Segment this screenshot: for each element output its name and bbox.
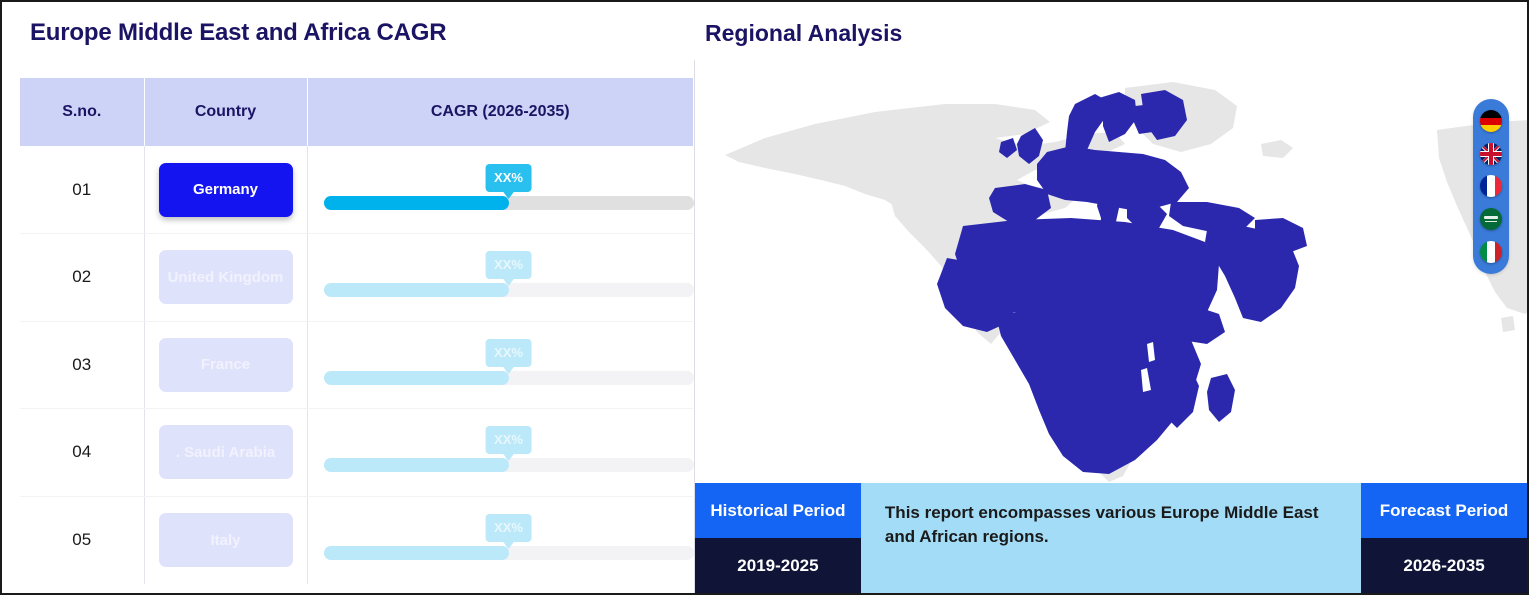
cagr-bar: XX% — [324, 424, 694, 480]
historical-period-block: Historical Period 2019-2025 — [695, 483, 861, 593]
cagr-bar: XX% — [324, 337, 694, 393]
table-header: S.no. Country CAGR (2026-2035) — [20, 78, 693, 146]
table-row: 01GermanyXX% — [20, 146, 693, 234]
infographic-root: Europe Middle East and Africa CAGR S.no.… — [0, 0, 1529, 595]
column-header-sno: S.no. — [20, 78, 144, 146]
world-map-svg — [695, 60, 1527, 483]
table-row: 02United KingdomXX% — [20, 234, 693, 322]
italy-flag-icon[interactable] — [1480, 241, 1502, 263]
forecast-period-years: 2026-2035 — [1361, 538, 1527, 593]
cagr-bar-fill — [324, 371, 509, 385]
cagr-value-tooltip: XX% — [485, 251, 532, 279]
table-row: 03FranceXX% — [20, 321, 693, 409]
cagr-bar-fill — [324, 196, 509, 210]
table-row: 04. Saudi ArabiaXX% — [20, 409, 693, 497]
germany-flag-icon[interactable] — [1480, 110, 1502, 132]
cagr-value-tooltip: XX% — [485, 426, 532, 454]
page-title: Europe Middle East and Africa CAGR — [30, 19, 446, 47]
cagr-bar: XX% — [324, 162, 694, 218]
united-kingdom-flag-icon[interactable] — [1480, 143, 1502, 165]
cagr-bar-fill — [324, 283, 509, 297]
country-pill[interactable]: United Kingdom — [159, 250, 293, 304]
row-serial-number: 04 — [20, 409, 144, 497]
saudi-arabia-flag-icon[interactable] — [1480, 208, 1502, 230]
cagr-bar: XX% — [324, 249, 694, 305]
regional-analysis-title: Regional Analysis — [705, 20, 902, 47]
row-serial-number: 02 — [20, 234, 144, 322]
country-pill[interactable]: . Saudi Arabia — [159, 425, 293, 479]
cagr-cell: XX% — [307, 234, 693, 322]
country-cell: United Kingdom — [144, 234, 307, 322]
country-cell: Italy — [144, 496, 307, 584]
table-row: 05ItalyXX% — [20, 496, 693, 584]
cagr-value-tooltip: XX% — [485, 514, 532, 542]
country-flag-strip[interactable] — [1473, 99, 1509, 274]
cagr-table: S.no. Country CAGR (2026-2035) 01Germany… — [20, 78, 693, 584]
forecast-period-label: Forecast Period — [1361, 483, 1527, 538]
cagr-cell: XX% — [307, 321, 693, 409]
country-pill[interactable]: France — [159, 338, 293, 392]
world-map — [695, 60, 1527, 483]
period-summary-bar: Historical Period 2019-2025 This report … — [695, 483, 1527, 593]
country-cell: France — [144, 321, 307, 409]
cagr-cell: XX% — [307, 496, 693, 584]
row-serial-number: 01 — [20, 146, 144, 234]
table-header-row: S.no. Country CAGR (2026-2035) — [20, 78, 693, 146]
historical-period-label: Historical Period — [695, 483, 861, 538]
cagr-bar: XX% — [324, 512, 694, 568]
row-serial-number: 05 — [20, 496, 144, 584]
cagr-cell: XX% — [307, 409, 693, 497]
row-serial-number: 03 — [20, 321, 144, 409]
column-header-country: Country — [144, 78, 307, 146]
country-pill[interactable]: Italy — [159, 513, 293, 567]
forecast-period-block: Forecast Period 2026-2035 — [1361, 483, 1527, 593]
cagr-value-tooltip: XX% — [485, 339, 532, 367]
table-body: 01GermanyXX%02United KingdomXX%03FranceX… — [20, 146, 693, 584]
country-pill[interactable]: Germany — [159, 163, 293, 217]
cagr-panel: Europe Middle East and Africa CAGR S.no.… — [2, 2, 695, 593]
france-flag-icon[interactable] — [1480, 175, 1502, 197]
cagr-bar-fill — [324, 546, 509, 560]
column-header-cagr: CAGR (2026-2035) — [307, 78, 693, 146]
cagr-bar-fill — [324, 458, 509, 472]
cagr-value-tooltip: XX% — [485, 164, 532, 192]
country-cell: Germany — [144, 146, 307, 234]
country-cell: . Saudi Arabia — [144, 409, 307, 497]
cagr-cell: XX% — [307, 146, 693, 234]
report-note: This report encompasses various Europe M… — [861, 483, 1361, 593]
historical-period-years: 2019-2025 — [695, 538, 861, 593]
